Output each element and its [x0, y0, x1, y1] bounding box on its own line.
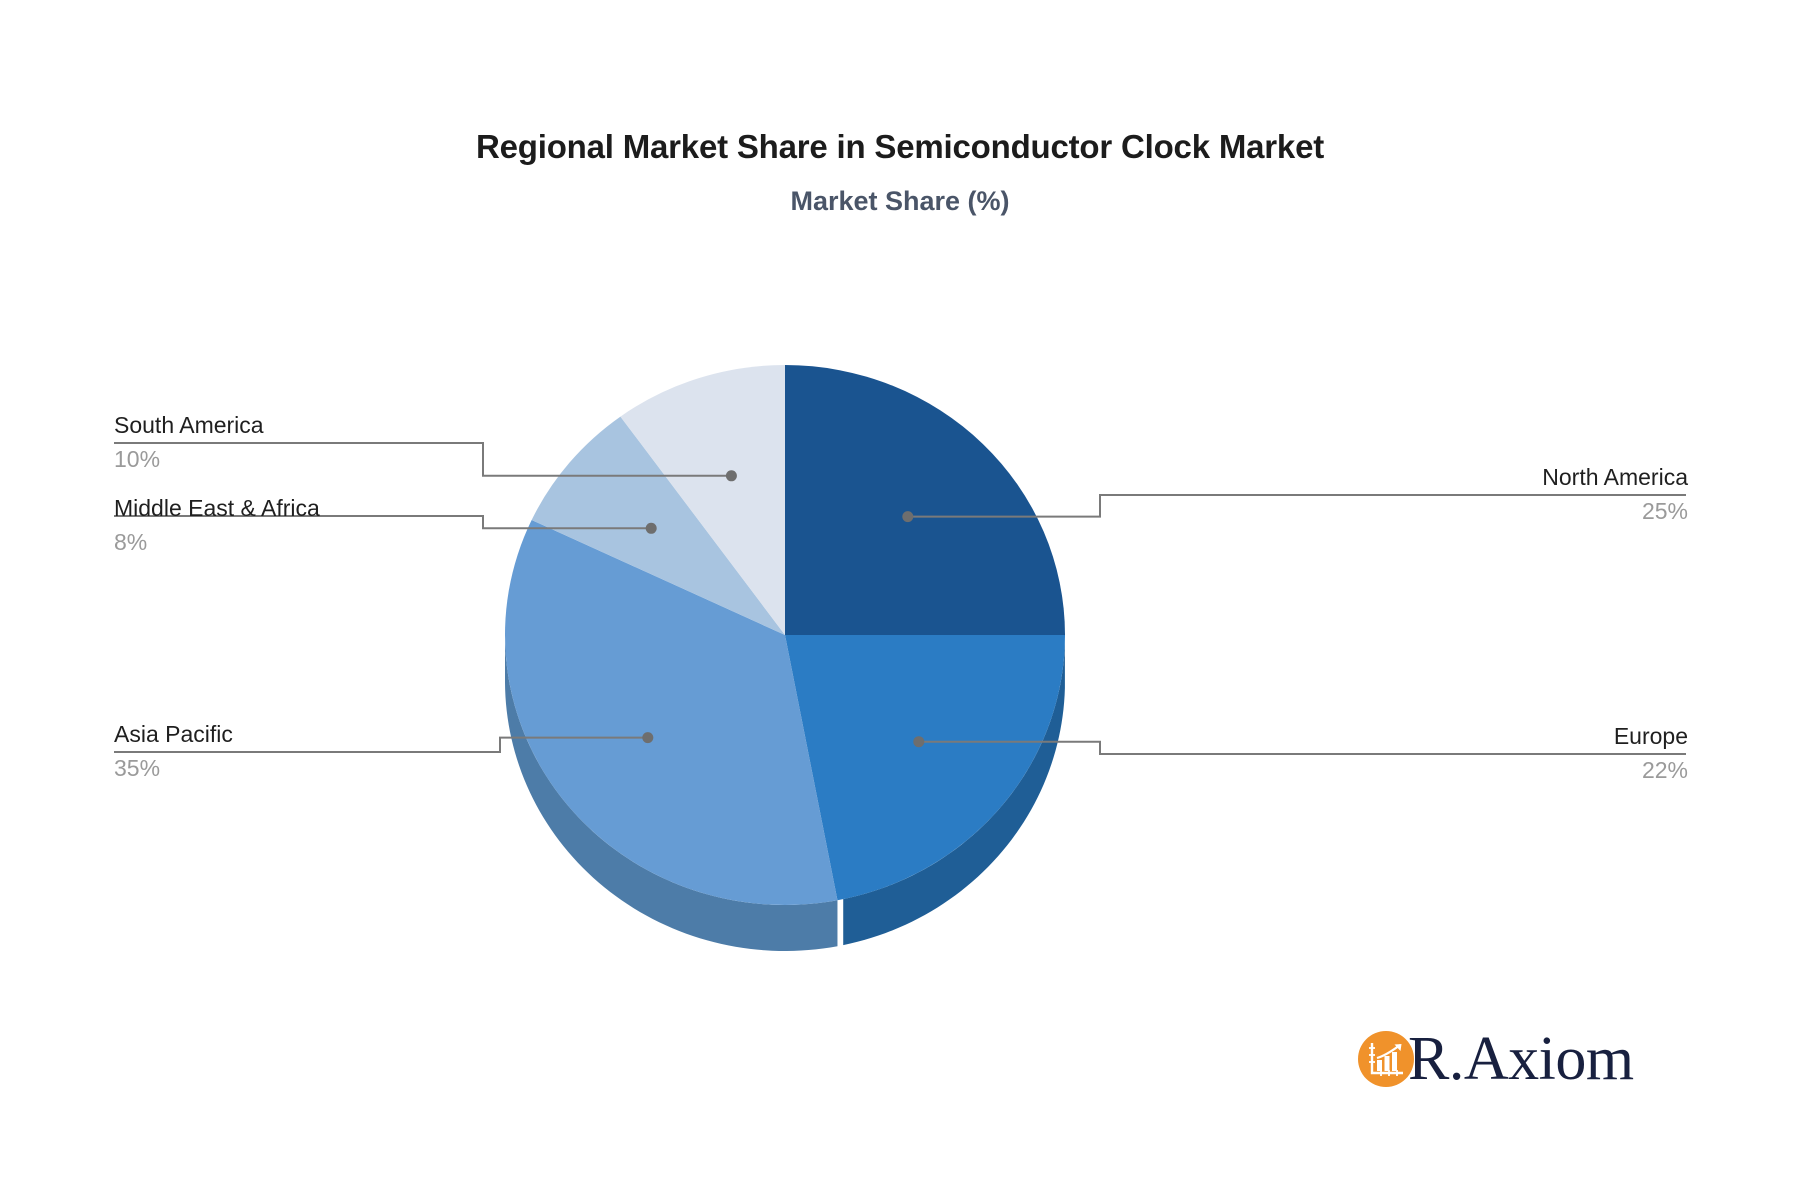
callout-label: South America — [114, 410, 264, 440]
brand-logo: R.Axiom — [1358, 1028, 1634, 1090]
leader-anchor-dot — [913, 736, 924, 747]
pie-slices — [505, 365, 1065, 905]
leader-anchor-dot — [902, 511, 913, 522]
pie-chart — [0, 0, 1800, 1196]
callout-europe[interactable]: Europe 22% — [1614, 721, 1688, 785]
leader-anchor-dot — [642, 732, 653, 743]
logo-text: R.Axiom — [1408, 1028, 1634, 1090]
callout-middle-east-africa[interactable]: Middle East & Africa 8% — [114, 493, 320, 557]
callout-value: 22% — [1614, 751, 1688, 785]
callout-value: 10% — [114, 440, 264, 474]
callout-label: Asia Pacific — [114, 719, 233, 749]
callout-value: 35% — [114, 749, 233, 783]
callout-label: Europe — [1614, 721, 1688, 751]
chart-canvas: Regional Market Share in Semiconductor C… — [0, 0, 1800, 1196]
callout-label: Middle East & Africa — [114, 493, 320, 523]
callout-south-america[interactable]: South America 10% — [114, 410, 264, 474]
bar-chart-icon — [1358, 1031, 1414, 1087]
callout-value: 8% — [114, 523, 320, 557]
leader-anchor-dot — [726, 470, 737, 481]
callout-north-america[interactable]: North America 25% — [1542, 462, 1688, 526]
leader-anchor-dot — [646, 523, 657, 534]
pie-slice-north-america[interactable] — [785, 365, 1065, 635]
callout-asia-pacific[interactable]: Asia Pacific 35% — [114, 719, 233, 783]
callout-label: North America — [1542, 462, 1688, 492]
callout-value: 25% — [1542, 492, 1688, 526]
